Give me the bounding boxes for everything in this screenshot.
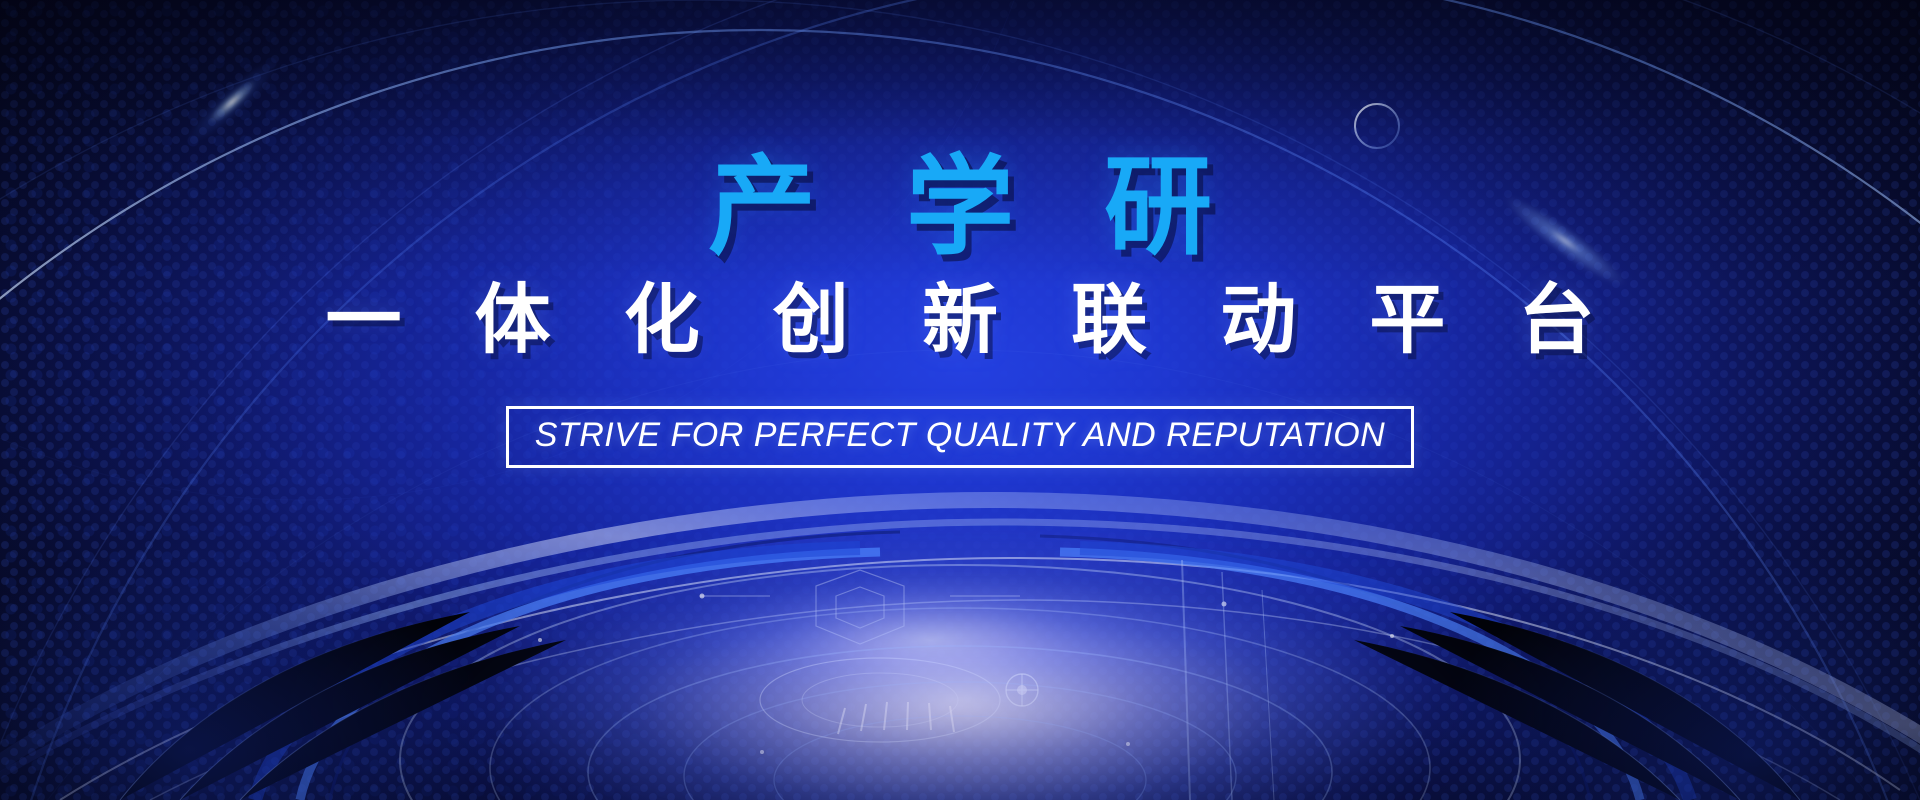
banner-root: 产 学 研 一 体 化 创 新 联 动 平 台 STRIVE FOR PERFE…	[0, 0, 1920, 800]
background-vignette	[0, 0, 1920, 800]
